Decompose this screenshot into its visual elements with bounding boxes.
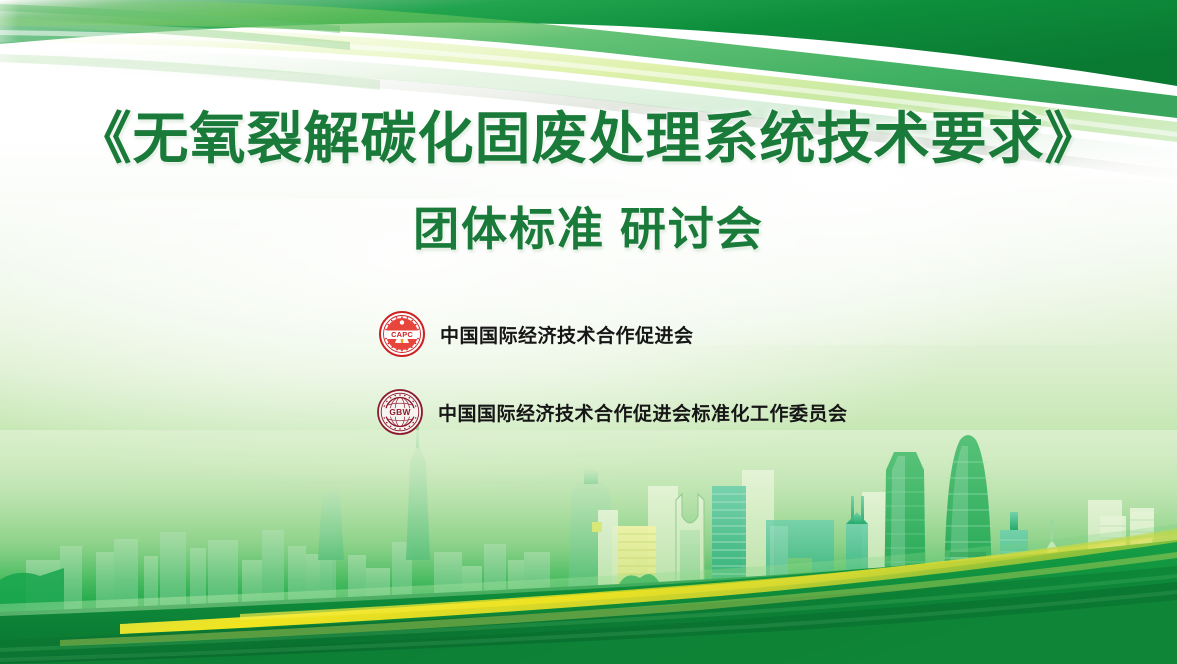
organization-name-gbw: 中国国际经济技术合作促进会标准化工作委员会 (438, 399, 848, 426)
gbw-seal-logo: GBW (376, 388, 424, 436)
svg-text:GBW: GBW (389, 407, 410, 417)
slide-subtitle: 团体标准 研讨会 (0, 203, 1177, 256)
capc-seal-logo: CAPC (378, 310, 426, 358)
presentation-slide: 《无氧裂解碳化固废处理系统技术要求》 团体标准 研讨会 CAPC (0, 0, 1177, 664)
slide-content: 《无氧裂解碳化固废处理系统技术要求》 团体标准 研讨会 CAPC (0, 0, 1177, 664)
organization-row-gbw: GBW (376, 388, 848, 436)
organization-row-capc: CAPC (378, 310, 694, 358)
svg-text:CAPC: CAPC (391, 330, 413, 339)
organization-name-capc: 中国国际经济技术合作促进会 (440, 321, 694, 348)
slide-title: 《无氧裂解碳化固废处理系统技术要求》 (0, 108, 1177, 171)
